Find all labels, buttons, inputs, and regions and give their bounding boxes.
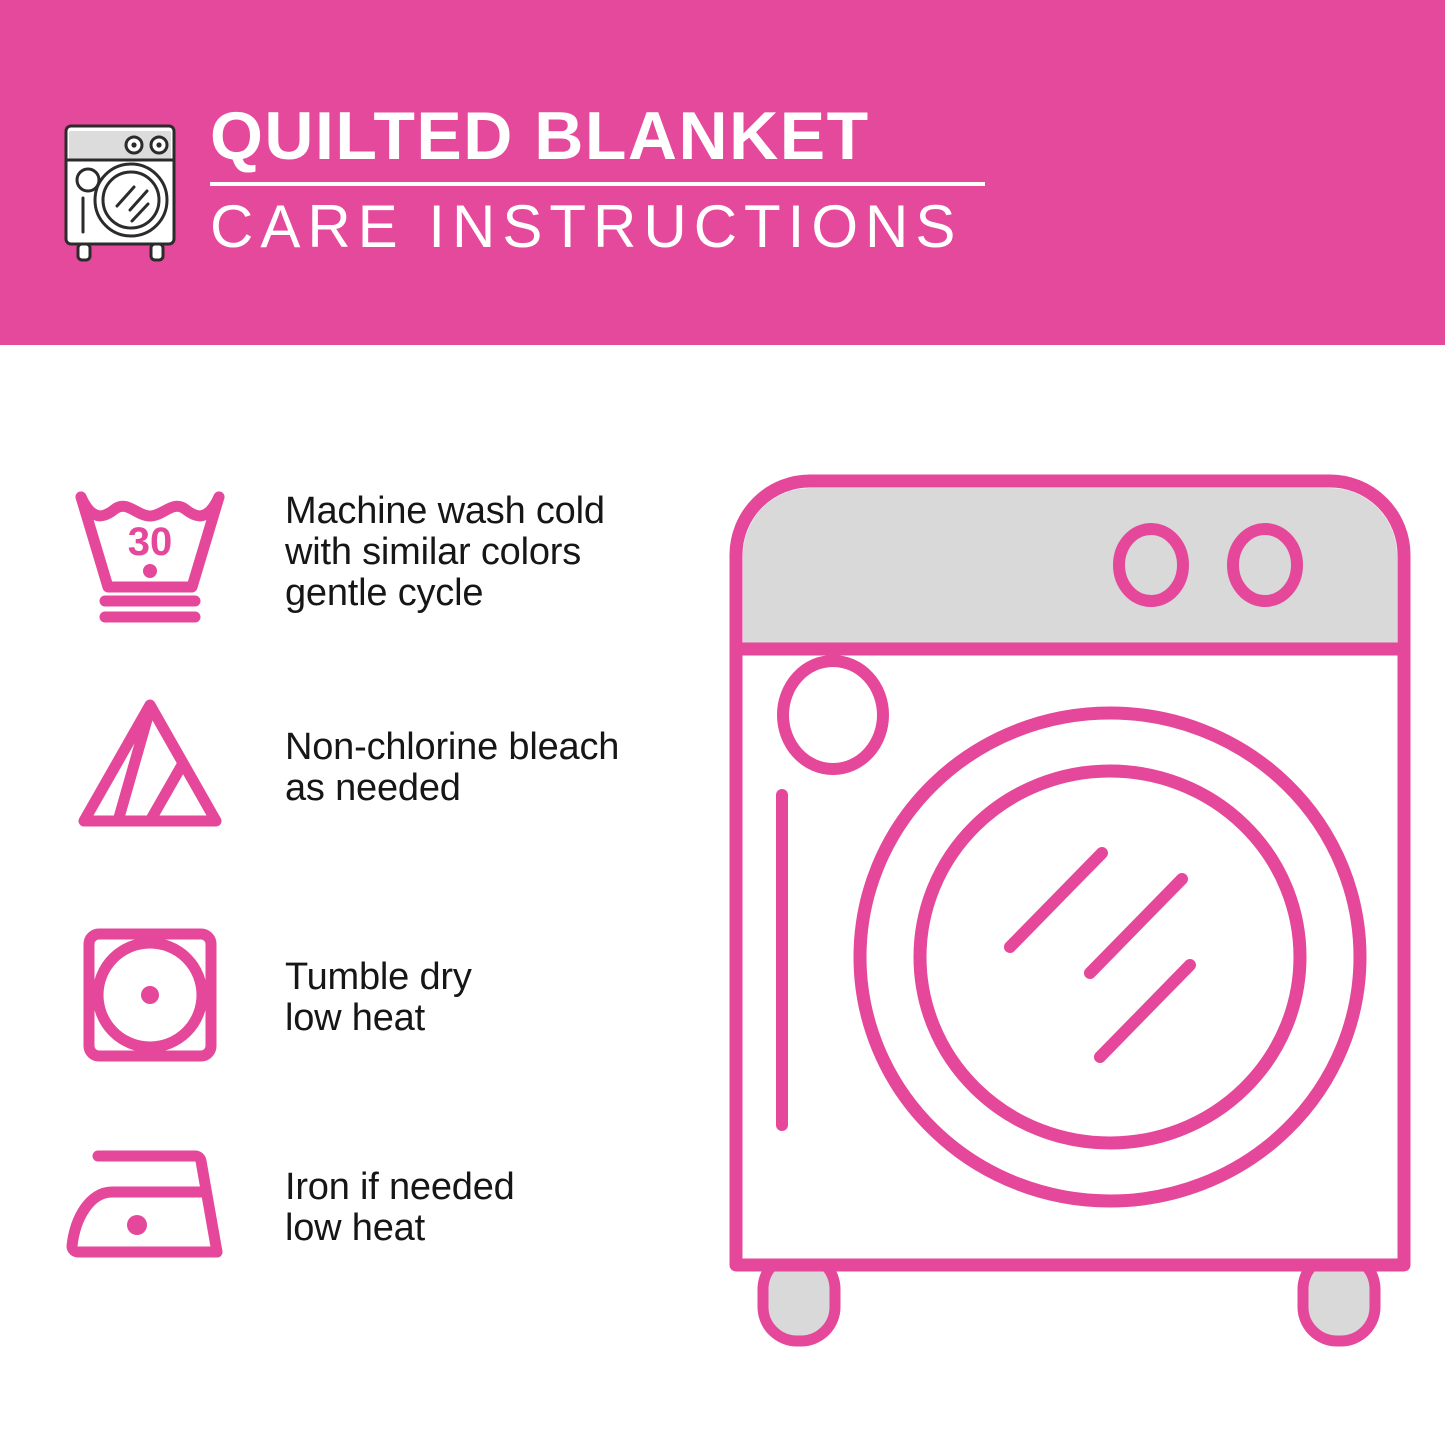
title-divider — [210, 182, 985, 186]
indicator-button — [783, 661, 883, 769]
care-line: Machine wash cold — [285, 491, 605, 532]
non-chlorine-bleach-triangle-icon — [62, 685, 237, 845]
wash-temperature-label: 30 — [127, 520, 172, 564]
care-text-0: Machine wash cold with similar colors ge… — [285, 475, 605, 614]
care-text-2: Tumble dry low heat — [285, 915, 472, 1039]
care-text-3: Iron if needed low heat — [285, 1125, 515, 1249]
list-item: 30 Machine wash cold with similar colors… — [62, 475, 682, 635]
page-title: QUILTED BLANKET — [210, 100, 985, 172]
header-title-block: QUILTED BLANKET CARE INSTRUCTIONS — [210, 100, 985, 260]
care-line: Non-chlorine bleach — [285, 727, 619, 768]
list-item: Non-chlorine bleach as needed — [62, 685, 682, 845]
care-line: Tumble dry — [285, 957, 472, 998]
care-line: gentle cycle — [285, 573, 605, 614]
list-item: Iron if needed low heat — [62, 1125, 682, 1285]
control-knob-1 — [1119, 529, 1183, 601]
care-text-1: Non-chlorine bleach as needed — [285, 685, 619, 809]
tumble-dry-low-icon — [62, 915, 237, 1075]
list-item: Tumble dry low heat — [62, 915, 682, 1075]
iron-low-heat-icon — [62, 1125, 237, 1285]
control-knob-2 — [1233, 529, 1297, 601]
care-line: low heat — [285, 998, 472, 1039]
wash-tub-30-gentle-icon: 30 — [62, 475, 237, 635]
washing-machine-icon — [58, 104, 188, 262]
care-line: Iron if needed — [285, 1167, 515, 1208]
content-area: 30 Machine wash cold with similar colors… — [0, 345, 1445, 1445]
header-content: QUILTED BLANKET CARE INSTRUCTIONS — [58, 100, 985, 262]
care-line: low heat — [285, 1208, 515, 1249]
care-line: with similar colors — [285, 532, 605, 573]
care-line: as needed — [285, 768, 619, 809]
page-subtitle: CARE INSTRUCTIONS — [210, 194, 985, 260]
front-load-washing-machine-illustration — [720, 465, 1420, 1365]
header-banner: QUILTED BLANKET CARE INSTRUCTIONS — [0, 0, 1445, 345]
